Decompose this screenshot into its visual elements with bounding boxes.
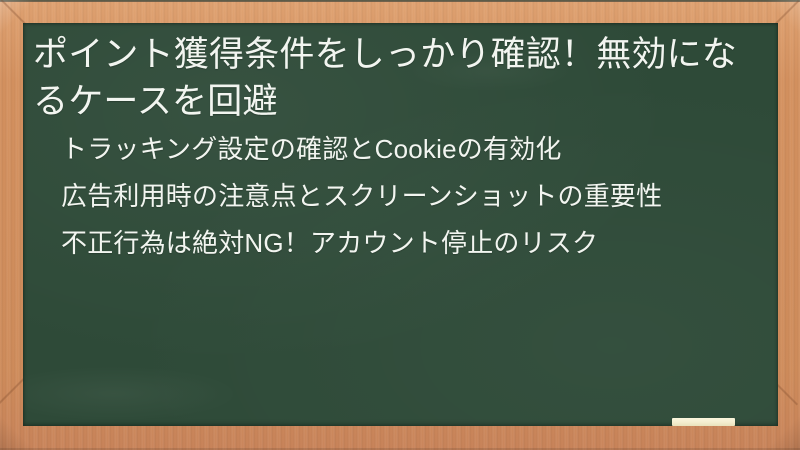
frame-top-edge bbox=[0, 0, 800, 2]
chalkboard-surface: ポイント獲得条件をしっかり確認！無効になるケースを回避 トラッキング設定の確認と… bbox=[23, 23, 778, 426]
list-item: トラッキング設定の確認とCookieの有効化 bbox=[33, 130, 763, 168]
chalkboard-slide: ポイント獲得条件をしっかり確認！無効になるケースを回避 トラッキング設定の確認と… bbox=[0, 0, 800, 450]
chalk-stick-icon bbox=[672, 418, 735, 426]
list-item: 不正行為は絶対NG！アカウント停止のリスク bbox=[33, 224, 763, 262]
list-item: 広告利用時の注意点とスクリーンショットの重要性 bbox=[33, 177, 763, 215]
topic-list: トラッキング設定の確認とCookieの有効化 広告利用時の注意点とスクリーンショ… bbox=[33, 130, 763, 271]
slide-title: ポイント獲得条件をしっかり確認！無効になるケースを回避 bbox=[33, 31, 768, 125]
